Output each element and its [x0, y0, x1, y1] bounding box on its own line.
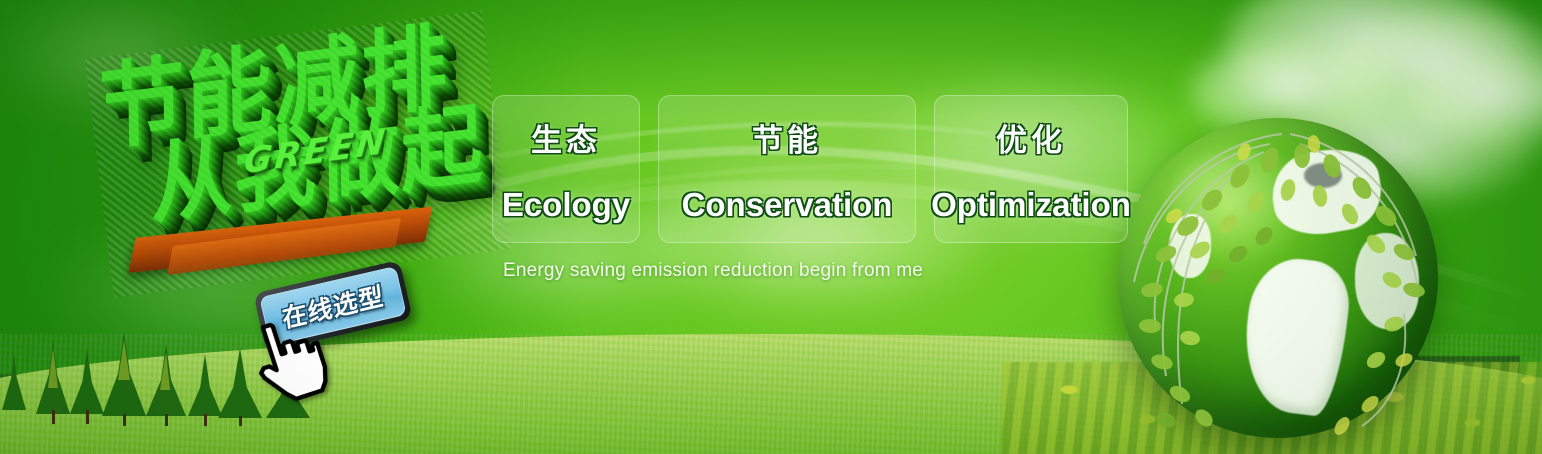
banner-tagline: Energy saving emission reduction begin f… [503, 260, 923, 282]
card-title-cn: 生态 [531, 115, 601, 160]
card-title-en: Conservation [682, 186, 893, 224]
continent-left-landmass [1169, 214, 1211, 278]
continent-south-america [1237, 253, 1354, 418]
card-conservation[interactable]: 节能 Conservation [658, 95, 916, 243]
card-title-en: Optimization [931, 186, 1131, 224]
card-title-en: Ecology [502, 186, 630, 224]
headline-3d-text: 节能减排 从我做起 GREEN [85, 11, 511, 298]
feature-cards: 生态 Ecology 节能 Conservation 优化 Optimizati… [492, 95, 1128, 243]
green-energy-banner: 节能减排 从我做起 GREEN 在线选型 生态 Ecology 节能 Conse… [0, 0, 1542, 454]
card-title-cn: 优化 [996, 115, 1066, 160]
card-ecology[interactable]: 生态 Ecology [492, 95, 640, 243]
card-title-cn: 节能 [752, 115, 822, 160]
continent-right-landmass [1355, 233, 1419, 329]
earth-globe [1118, 118, 1438, 438]
card-optimization[interactable]: 优化 Optimization [934, 95, 1128, 243]
globe-sphere [1118, 118, 1438, 438]
